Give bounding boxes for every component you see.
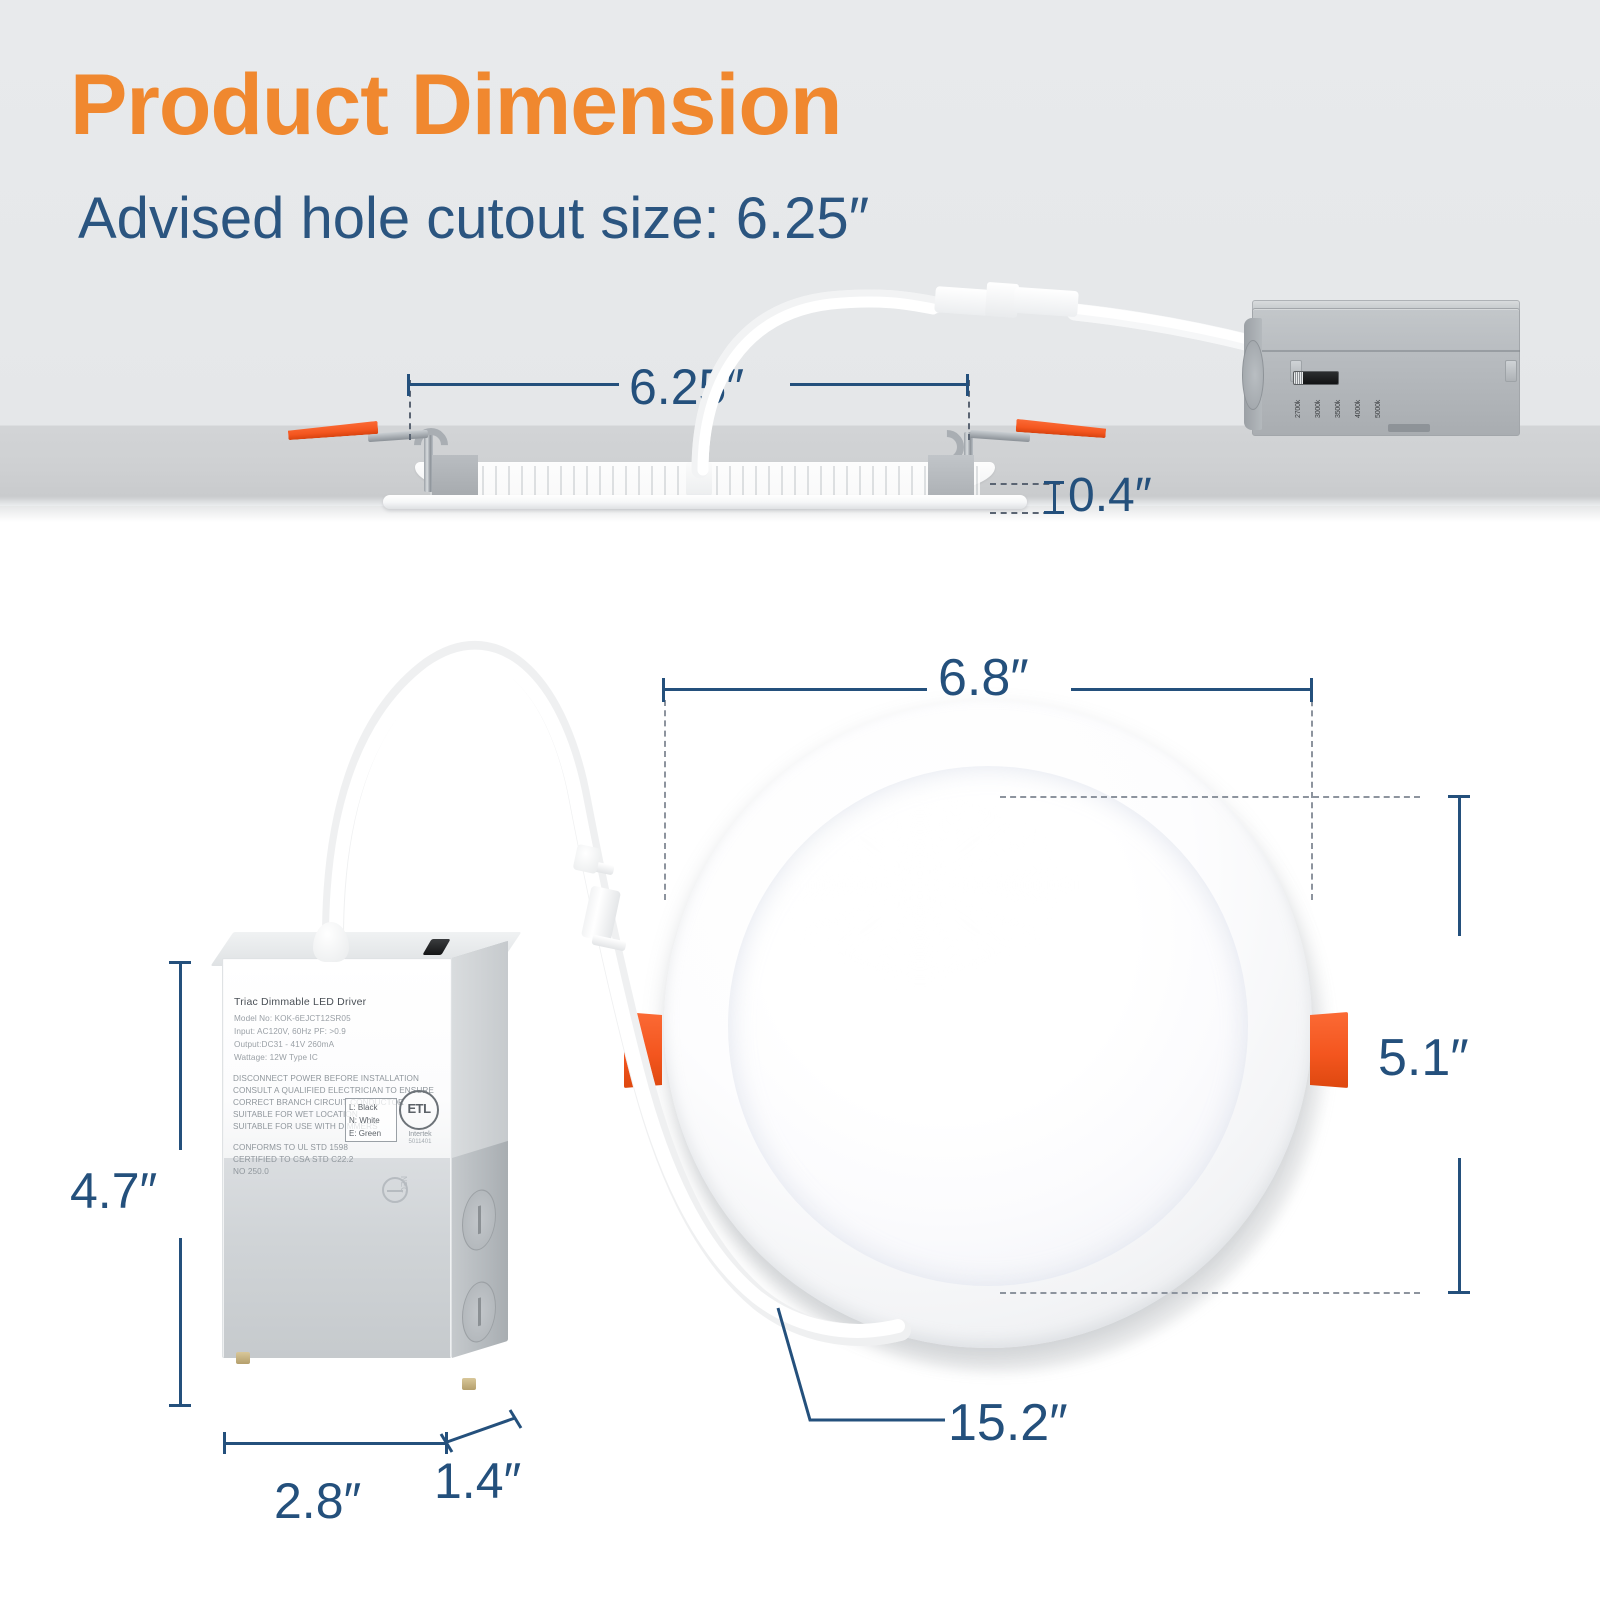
driver-warning-4: SUITABLE FOR WET LOCATION [233, 1110, 358, 1119]
tick-driverwidth-left [223, 1432, 226, 1454]
dimension-label-housing-depth: 0.4″ [1068, 468, 1152, 523]
cable-connector-male [934, 286, 990, 316]
wiring-earth: E: Green [349, 1127, 393, 1140]
lower-connector-ring-bottom [591, 935, 626, 952]
driver-warning-1: DISCONNECT POWER BEFORE INSTALLATION [233, 1074, 419, 1083]
lower-cable-connector [581, 885, 621, 942]
ext-line-panel-left [664, 700, 666, 900]
ext-line-panelheight-top [1000, 796, 1420, 798]
panel-spring-clip-right [1310, 1012, 1348, 1088]
driver-cert-3: NO 250.0 [233, 1167, 269, 1176]
panel-light-highlight [770, 790, 1070, 980]
wiring-neutral: N: White [349, 1114, 393, 1127]
driver-cert-1: CONFORMS TO UL STD 1598 [233, 1143, 348, 1152]
rule-housing-depth [1053, 481, 1056, 514]
tick-driverheight-top [169, 961, 191, 964]
dimension-label-panel-diameter: 6.8″ [938, 648, 1029, 708]
etl-agency-label: Intertek [398, 1131, 442, 1138]
junction-box-bottom-notch [1388, 424, 1430, 432]
ext-line-panel-right [1311, 690, 1313, 900]
driver-foot-left [236, 1352, 250, 1364]
tick-depth-top [1044, 481, 1064, 484]
panel-spring-clip-left [624, 1012, 662, 1088]
dimension-label-panel-height: 5.1″ [1378, 1028, 1469, 1088]
dimension-label-driver-depth: 1.4″ [434, 1452, 521, 1510]
housing-left-shoulder [432, 455, 478, 495]
driver-cable-gland [313, 922, 349, 962]
wiring-live: L: Black [349, 1101, 393, 1114]
driver-label-model: Model No: KOK-6EJCT12SR05 [234, 1014, 351, 1023]
junction-box-tab-right [1505, 360, 1517, 382]
housing-right-shoulder [928, 455, 974, 495]
rule-panelheight-upper [1458, 796, 1461, 936]
product-dimension-infographic: Product Dimension Advised hole cutout si… [0, 0, 1600, 1600]
dimension-label-cutout-width: 6.25″ [629, 358, 744, 416]
driver-side-upper [452, 941, 508, 1158]
rule-panel-right [1071, 688, 1313, 691]
driver-label-title: Triac Dimmable LED Driver [234, 996, 366, 1008]
rule-driverheight-lower [179, 1238, 182, 1406]
dimension-label-driver-height: 4.7″ [70, 1162, 157, 1220]
etl-number-label: 5011401 [398, 1139, 442, 1145]
rule-cutout-left [407, 383, 619, 386]
driver-label-wattage: Wattage: 12W Type IC [234, 1053, 318, 1062]
rule-driverwidth [224, 1442, 447, 1445]
cct-option-5000k: 5000k [1375, 400, 1415, 418]
driver-label-output: Output:DC31 - 41V 260mA [234, 1040, 334, 1049]
driver-label-input: Input: AC120V, 60Hz PF: >0.9 [234, 1027, 346, 1036]
tick-driverwidth-right [445, 1432, 448, 1454]
driver-metal-body [224, 1158, 450, 1358]
tick-panelheight-top [1448, 795, 1470, 798]
driver-foot-right [462, 1378, 476, 1390]
dimension-label-driver-width: 2.8″ [274, 1472, 361, 1530]
ext-line-panelheight-bottom [1000, 1292, 1420, 1294]
rule-panel-left [662, 688, 927, 691]
page-title: Product Dimension [70, 62, 841, 148]
tick-depth-bottom [1044, 511, 1064, 514]
junction-box-seam [1252, 350, 1520, 352]
cct-option-labels: 2700k 3000k 3500k 4000k 5000k [1291, 388, 1351, 428]
driver-nec-text: NEC [399, 1176, 408, 1193]
page-subtitle: Advised hole cutout size: 6.25″ [78, 190, 869, 248]
fixture-trim-flange [383, 495, 1027, 509]
dimension-label-cable-length: 15.2″ [948, 1393, 1068, 1453]
cct-selector-slider[interactable] [1294, 372, 1303, 384]
etl-label: ETL [399, 1101, 439, 1116]
rule-cutout-right [790, 383, 969, 386]
fixture-center-post [686, 462, 712, 496]
rule-driverheight-upper [179, 962, 182, 1150]
driver-cert-2: CERTIFIED TO CSA STD C22.2 [233, 1155, 353, 1164]
tick-driverheight-bottom [169, 1404, 191, 1407]
etl-certification-mark: ETL Intertek 5011401 [399, 1090, 439, 1130]
tick-panelheight-bottom [1448, 1291, 1470, 1294]
cable-connector-female [1013, 287, 1079, 317]
junction-box-knockout [1242, 340, 1264, 410]
cct-selector-switch[interactable] [1293, 371, 1339, 385]
rule-panelheight-lower [1458, 1158, 1461, 1294]
driver-wiring-legend: L: Black N: White E: Green [345, 1098, 397, 1142]
